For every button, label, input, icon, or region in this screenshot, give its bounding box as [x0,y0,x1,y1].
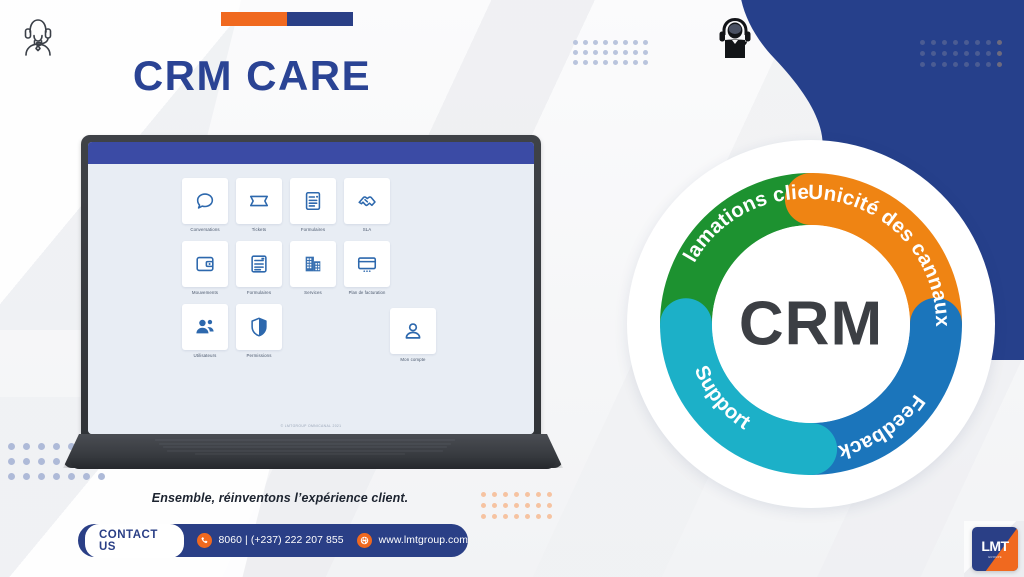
globe-icon [357,533,372,548]
contact-website[interactable]: www.lmtgroup.com [357,533,468,548]
person-icon [402,320,424,342]
contact-phone[interactable]: 8060 | (+237) 222 207 855 [197,533,344,548]
title-accent-bar [221,12,353,26]
tile-card[interactable] [236,304,282,350]
building-icon [302,253,324,275]
logo-name: LMT [981,539,1008,553]
tile-label: Tickets [252,228,266,233]
app-tile-permissions[interactable]: Permissions [236,304,282,363]
tile-label: Utilisateurs [194,354,217,359]
logo-text: LMT GROUPE [972,527,1018,571]
app-tile-services[interactable]: Services [290,241,336,296]
title-accent-orange [221,12,287,26]
donut-center-label: CRM [739,289,883,360]
tile-label: Mon compte [400,358,425,363]
tile-card[interactable] [390,308,436,354]
lmt-logo: LMT GROUPE [972,527,1018,571]
tagline-text: Ensemble, réinventons l’expérience clien… [0,491,560,505]
credit-card-icon [356,253,378,275]
shield-icon [248,316,270,338]
crm-donut-diagram: Réclamations clients Unicité des cannaux… [627,140,995,508]
laptop-mockup: Conversations Tickets [63,135,563,480]
phone-icon [197,533,212,548]
app-dashboard: Conversations Tickets [88,164,534,434]
app-tile-formulaires[interactable]: Formulaires [290,178,336,233]
app-tile-mouvements[interactable]: Mouvements [182,241,228,296]
tile-card[interactable] [182,241,228,287]
logo-tagline: GROUPE [988,555,1002,559]
app-tile-plan-de-facturation[interactable]: Plan de facturation [344,241,390,296]
app-tile-tickets[interactable]: Tickets [236,178,282,233]
tile-card[interactable] [290,178,336,224]
tile-card[interactable] [344,241,390,287]
tile-label: Permissions [246,354,271,359]
headset-agent-solid-icon [716,16,754,58]
tile-card[interactable] [236,178,282,224]
contact-us-button[interactable]: CONTACT US [85,524,184,558]
ticket-icon [248,190,270,212]
tile-label: Services [304,291,322,296]
tile-card[interactable] [182,178,228,224]
page-title: CRM CARE [0,52,504,100]
users-icon [194,316,216,338]
form-list-icon [248,253,270,275]
tile-card[interactable] [236,241,282,287]
dot-grid-top-left [573,40,653,70]
form-document-icon [302,190,324,212]
app-tile-utilisateurs[interactable]: Utilisateurs [182,304,228,363]
laptop-keyboard [155,438,471,454]
poster-canvas: CRM CARE Conversations [0,0,1024,577]
handshake-icon [356,190,378,212]
tile-label: Formulaires [247,291,271,296]
website-url: www.lmtgroup.com [379,535,468,546]
phone-number: 8060 | (+237) 222 207 855 [219,535,344,546]
laptop-base-lip [70,458,556,469]
tile-label: Conversations [190,228,219,233]
laptop-lid: Conversations Tickets [81,135,541,440]
tile-card[interactable] [182,304,228,350]
tile-label: Formulaires [301,228,325,233]
app-header-bar [88,142,534,164]
tile-label: Mouvements [192,291,218,296]
title-accent-navy [287,12,353,26]
app-tile-mon-compte[interactable]: Mon compte [390,308,436,363]
tile-card[interactable] [290,241,336,287]
app-footer-copyright: © LMTGROUP OMNICANAL 2021 [88,424,534,428]
contact-bar: CONTACT US 8060 | (+237) 222 207 855 www… [78,524,468,557]
tile-label: Plan de facturation [349,291,386,296]
app-tile-formulaires-2[interactable]: Formulaires [236,241,282,296]
tile-label: SLA [363,228,372,233]
app-tile-sla[interactable]: SLA [344,178,390,233]
chat-bubble-icon [194,190,216,212]
tile-card[interactable] [344,178,390,224]
dot-grid-top-right [920,40,1008,73]
headset-agent-icon [14,10,62,58]
laptop-screen: Conversations Tickets [88,142,534,434]
app-tile-conversations[interactable]: Conversations [182,178,228,233]
wallet-icon [194,253,216,275]
app-tile-grid: Conversations Tickets [182,178,440,363]
